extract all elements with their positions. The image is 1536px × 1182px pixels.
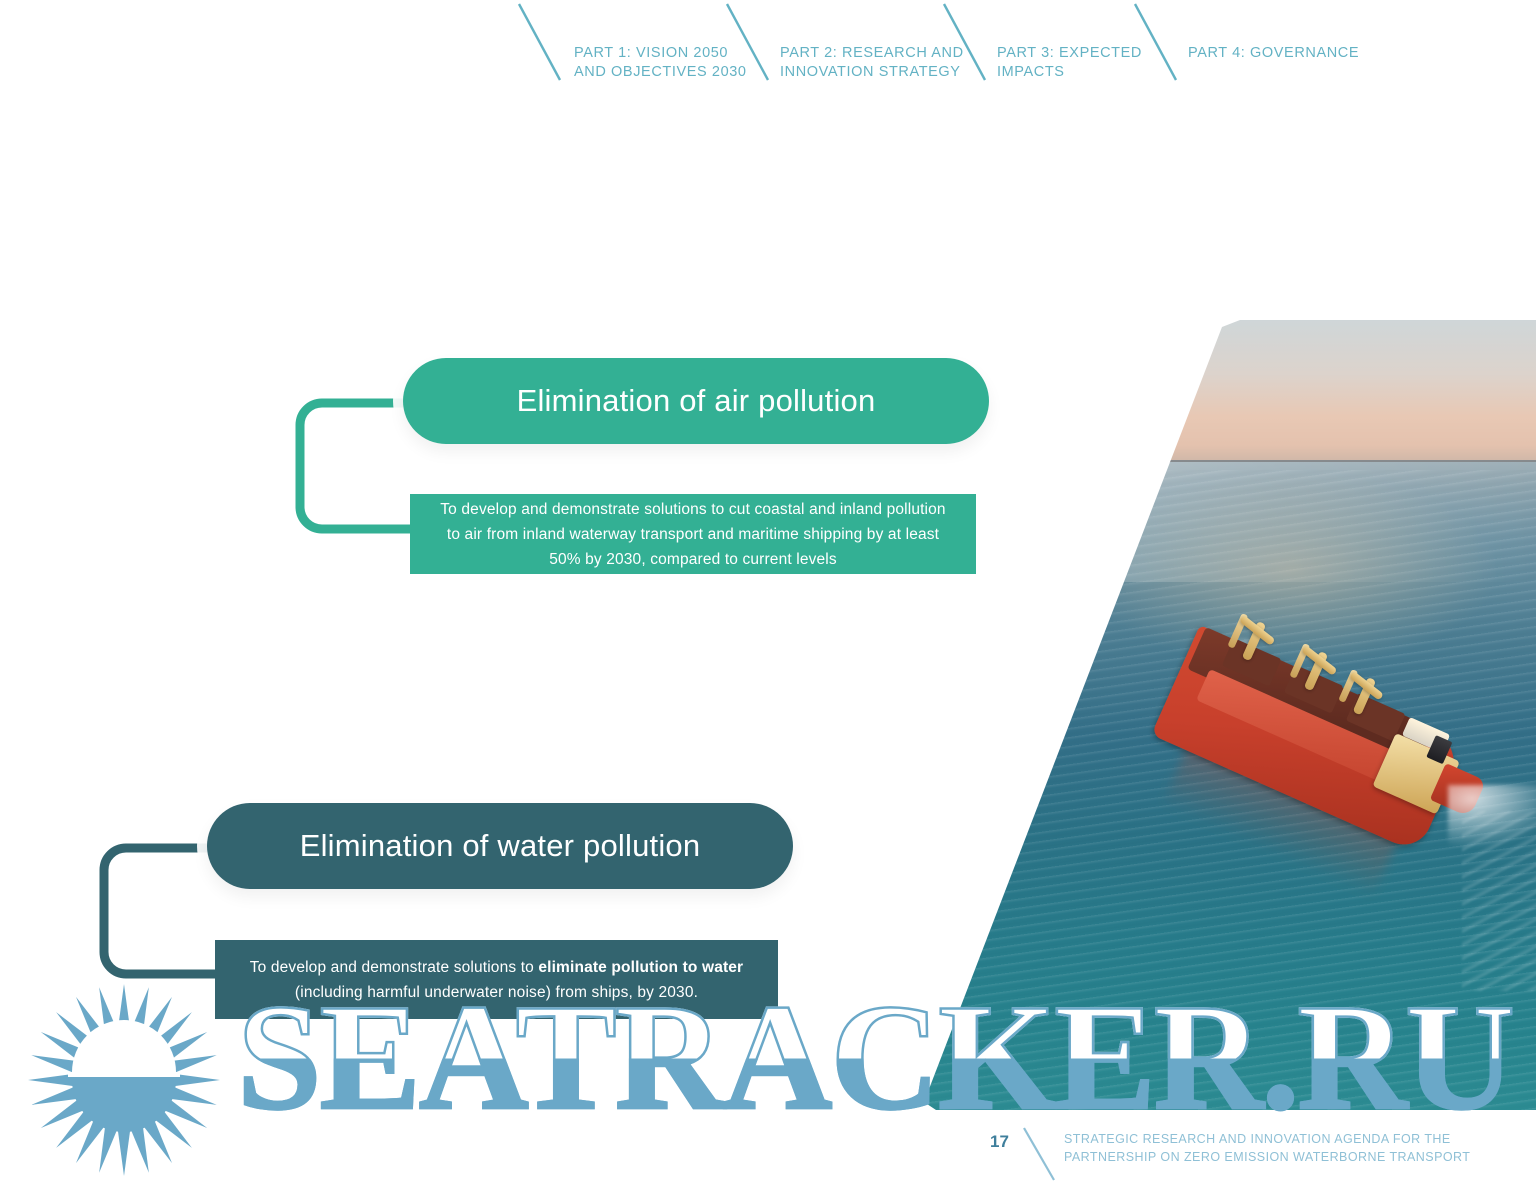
card-body-water-pollution: To develop and demonstrate solutions to … [215,940,778,1019]
nav-item-part-1[interactable]: PART 1: VISION 2050 AND OBJECTIVES 2030 [574,44,747,82]
photo-sky [900,320,1536,462]
card-title-water-pollution: Elimination of water pollution [207,803,793,889]
nav-item-part-3[interactable]: PART 3: EXPECTED IMPACTS [997,44,1142,82]
card-title-air-pollution: Elimination of air pollution [403,358,989,444]
nav-item-part-4[interactable]: PART 4: GOVERNANCE [1188,44,1359,63]
document-page: PART 1: VISION 2050 AND OBJECTIVES 2030 … [0,0,1536,1182]
card-body-text: To develop and demonstrate solutions to … [250,955,743,1005]
connector-bracket-air [292,396,422,536]
card-body-air-pollution: To develop and demonstrate solutions to … [410,494,976,574]
wake-trail [1462,811,1536,991]
card-title-text: Elimination of water pollution [300,828,701,864]
page-number: 17 [990,1132,1009,1152]
sun-logo-icon [10,980,238,1181]
page-footer: 17 STRATEGIC RESEARCH AND INNOVATION AGE… [990,1126,1510,1182]
ship-photo [900,320,1536,1120]
footer-title: STRATEGIC RESEARCH AND INNOVATION AGENDA… [1064,1130,1470,1166]
nav-item-part-2[interactable]: PART 2: RESEARCH AND INNOVATION STRATEGY [780,44,964,82]
card-body-text: To develop and demonstrate solutions to … [440,497,945,572]
connector-bracket-water [96,841,226,981]
cargo-ship [1200,585,1510,855]
card-title-text: Elimination of air pollution [517,383,876,419]
part-navigation: PART 1: VISION 2050 AND OBJECTIVES 2030 … [0,0,1536,100]
